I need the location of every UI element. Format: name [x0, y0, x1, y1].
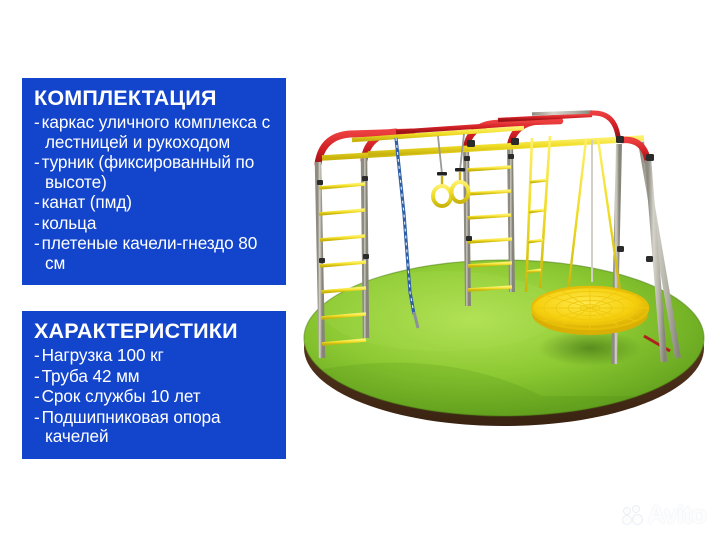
list-item-text: турник (фиксированный по высоте) — [42, 152, 255, 192]
bullet-dash: - — [34, 192, 40, 212]
komplektaciya-title: КОМПЛЕКТАЦИЯ — [34, 86, 274, 110]
clamps — [467, 136, 654, 262]
harakteristiki-list: -Нагрузка 100 кг -Труба 42 мм -Срок служ… — [34, 346, 274, 447]
list-item-text: Подшипниковая опора качелей — [42, 407, 221, 447]
bullet-dash: - — [34, 386, 40, 406]
nest-shadow — [538, 330, 642, 366]
list-item: -канат (пмд) — [34, 193, 274, 213]
avito-watermark: Avito — [623, 503, 706, 528]
nest-swing — [532, 139, 648, 335]
bullet-dash: - — [34, 345, 40, 365]
bullet-dash: - — [34, 152, 40, 172]
list-item-text: канат (пмд) — [42, 192, 132, 212]
grass-disc — [292, 260, 712, 426]
bullet-dash: - — [34, 366, 40, 386]
list-item-text: кольца — [42, 213, 97, 233]
list-item: -турник (фиксированный по высоте) — [34, 153, 274, 192]
avito-wordmark: Avito — [647, 503, 706, 528]
product-card-page: КОМПЛЕКТАЦИЯ -каркас уличного комплекса … — [0, 0, 720, 540]
gymnastic-rings — [433, 134, 469, 206]
harakteristiki-title: ХАРАКТЕРИСТИКИ — [34, 319, 274, 343]
komplektaciya-panel: КОМПЛЕКТАЦИЯ -каркас уличного комплекса … — [22, 78, 286, 285]
list-item: -каркас уличного комплекса с лестницей и… — [34, 113, 274, 152]
komplektaciya-list: -каркас уличного комплекса с лестницей и… — [34, 113, 274, 273]
list-item-text: каркас уличного комплекса с лестницей и … — [42, 112, 270, 152]
list-item-text: Срок службы 10 лет — [42, 386, 201, 406]
list-item-text: плетеные качели-гнездо 80 см — [42, 233, 258, 273]
list-item: -Труба 42 мм — [34, 367, 274, 387]
bullet-dash: - — [34, 112, 40, 132]
list-item: -Нагрузка 100 кг — [34, 346, 274, 366]
bullet-dash: - — [34, 233, 40, 253]
list-item: -плетеные качели-гнездо 80 см — [34, 234, 274, 273]
list-item: -Подшипниковая опора качелей — [34, 408, 274, 447]
playground-illustration — [292, 96, 716, 426]
list-item: -Срок службы 10 лет — [34, 387, 274, 407]
harakteristiki-panel: ХАРАКТЕРИСТИКИ -Нагрузка 100 кг -Труба 4… — [22, 311, 286, 459]
product-photo — [292, 96, 716, 426]
list-item-text: Труба 42 мм — [42, 366, 140, 386]
avito-dots-icon — [623, 506, 643, 526]
list-item: -кольца — [34, 214, 274, 234]
bullet-dash: - — [34, 213, 40, 233]
list-item-text: Нагрузка 100 кг — [42, 345, 164, 365]
bullet-dash: - — [34, 407, 40, 427]
